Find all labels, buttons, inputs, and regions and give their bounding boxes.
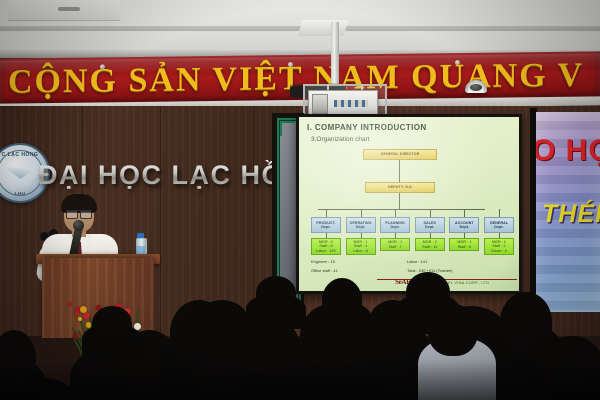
dome-camera-icon — [465, 80, 487, 93]
org-box-general-director: GENERAL DIRECTOR — [363, 149, 437, 160]
deco-corner-icon — [280, 121, 295, 136]
org-headcount-account: MGR : 1Staff : 5 — [449, 238, 479, 251]
org-headcount-planning: MGR : 1Staff : 7 — [380, 238, 410, 251]
flower-icon — [68, 302, 72, 306]
ceiling-vent — [8, 0, 120, 21]
org-box-planning: PLANNINGDept. — [380, 217, 410, 233]
org-connector — [399, 193, 400, 209]
flower-icon — [73, 333, 79, 339]
banner-bolt — [455, 60, 460, 65]
foreground-shadow — [0, 360, 600, 400]
org-connector — [399, 160, 400, 182]
org-headcount-sales: MGR : 2Staff : 11 — [415, 238, 445, 251]
flower-icon — [75, 311, 79, 315]
projector-lens — [312, 94, 328, 114]
screen-glare — [299, 117, 519, 291]
projection-screen: I. COMPANY INTRODUCTION 3.Organization c… — [299, 117, 519, 291]
projector-mount-plate — [298, 20, 348, 36]
org-box-operating: OPERATINGDept. — [346, 217, 376, 233]
audience-member-head — [92, 306, 132, 340]
banner-bolt — [288, 62, 293, 67]
summary-row: Office staff : 41 — [311, 268, 338, 273]
audience-member-head — [428, 304, 478, 356]
org-connector — [499, 209, 500, 217]
projector-indicator-lights — [334, 100, 368, 107]
org-connector — [361, 209, 362, 217]
summary-row: Engineer : 15 — [311, 259, 335, 264]
slide-subtitle: 3.Organization chart — [311, 136, 370, 143]
org-connector — [430, 209, 431, 217]
org-box-deputy-gd: DEPUTY. G.D — [365, 182, 435, 193]
org-box-account: ACCOUNTDept. — [449, 217, 479, 233]
bottle-label — [136, 246, 145, 254]
flower-icon — [78, 317, 82, 321]
slide-title: I. COMPANY INTRODUCTION — [307, 123, 427, 132]
banner-bolt — [100, 64, 105, 69]
org-box-sales: SALESDept. — [415, 217, 445, 233]
right-banner-line1: O HỌC — [536, 134, 600, 168]
org-connector — [326, 209, 327, 217]
seal-top-text: C LẠC HỒNG — [0, 152, 44, 158]
microphone-head-icon — [73, 220, 84, 231]
projector-pole — [331, 22, 339, 84]
audience-member-head — [322, 278, 362, 322]
audience-member-head — [196, 300, 248, 340]
flower-icon — [86, 322, 92, 328]
right-banner: O HỌC THÉP — [536, 112, 600, 312]
summary-row: Labor : 141 — [407, 259, 427, 264]
org-headcount-general: MGR : 1Staff : 2Driver : 4 — [484, 238, 514, 255]
audience-member-head — [500, 292, 552, 352]
org-connector-bus — [318, 209, 485, 210]
right-banner-line2: THÉP — [542, 200, 600, 229]
org-headcount-operating: MGR : 1Staff : 4Labor : 6 — [346, 238, 376, 255]
org-headcount-product: MGR : 2Staff : 6Labor : 129 — [311, 238, 341, 255]
wall-seam — [160, 106, 161, 336]
audience-member-head — [256, 276, 296, 310]
eyeglasses-icon — [66, 210, 92, 217]
org-connector — [395, 209, 396, 217]
org-box-general: GENERALDept. — [484, 217, 514, 233]
org-connector — [464, 209, 465, 217]
lecture-hall-photo: CỘNG SẢN VIỆT NAM QUANG V C LẠC HỒNG LHU… — [0, 0, 600, 400]
org-box-product: PRODUCT.Dept. — [311, 217, 341, 233]
